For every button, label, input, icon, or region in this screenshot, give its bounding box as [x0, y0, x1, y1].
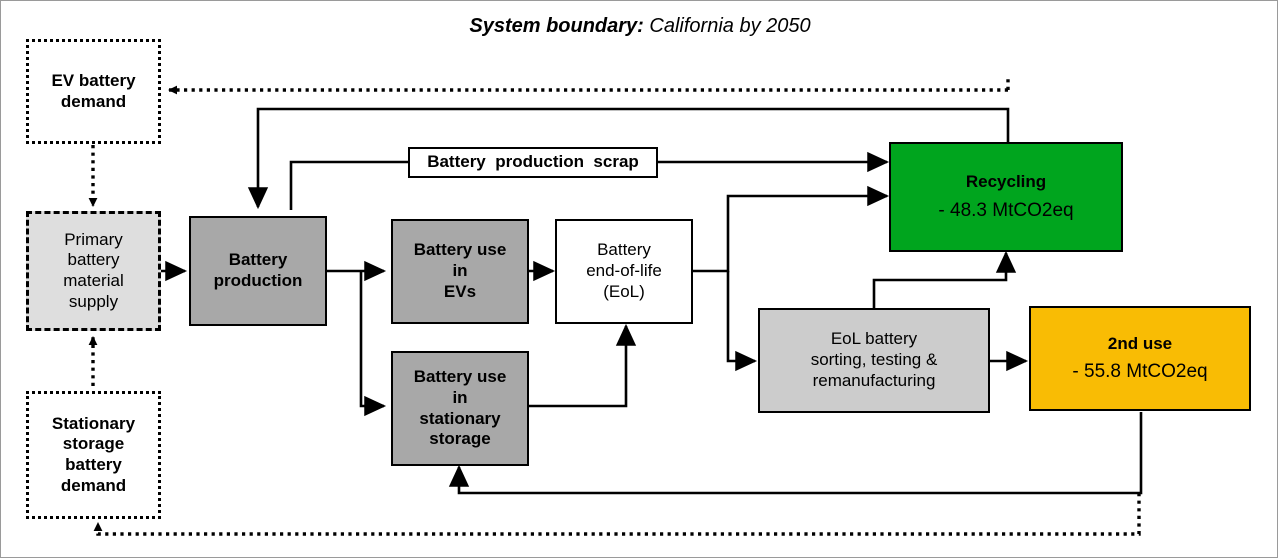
node-label-line: remanufacturing [813, 371, 936, 392]
node-label-line: in [452, 388, 467, 409]
node-label-line: demand [61, 92, 126, 113]
line-eol-to-recycling [692, 196, 887, 271]
node-label-line: end-of-life [586, 261, 662, 282]
node-stationary-storage-battery-demand[interactable]: Stationary storage battery demand [26, 391, 161, 519]
node-label-line: supply [69, 292, 118, 313]
node-label-line: (EoL) [603, 282, 645, 303]
node-label-line: storage [429, 429, 490, 450]
node-ev-battery-demand[interactable]: EV battery demand [26, 39, 161, 144]
node-primary-battery-material-supply[interactable]: Primary battery material supply [26, 211, 161, 331]
node-label-line: EV battery [51, 71, 135, 92]
node-label-line: EVs [444, 282, 476, 303]
line-seconduse-to-statuse [459, 412, 1141, 493]
node-label-line: battery [68, 250, 120, 271]
node-label-line: Primary [64, 230, 123, 251]
node-label-line: stationary [419, 409, 500, 430]
line-production-to-statuse [361, 271, 384, 406]
node-label-line: Battery production scrap [427, 152, 639, 173]
node-battery-use-in-stationary-storage[interactable]: Battery use in stationary storage [391, 351, 529, 466]
page-title: System boundary: California by 2050 [1, 15, 1278, 38]
node-label-line: material [63, 271, 123, 292]
node-battery-use-in-evs[interactable]: Battery use in EVs [391, 219, 529, 324]
node-battery-end-of-life[interactable]: Battery end-of-life (EoL) [555, 219, 693, 324]
node-label-line: in [452, 261, 467, 282]
line-sorting-to-recycling [874, 253, 1006, 308]
node-label-line: Battery [597, 240, 651, 261]
line-eol-to-sorting [728, 271, 755, 361]
node-label-line: Battery [229, 250, 288, 271]
title-normal-part: California by 2050 [644, 15, 811, 37]
diagram-canvas: System boundary: California by 2050 [0, 0, 1278, 558]
node-impact-value: - 55.8 MtCO2eq [1072, 360, 1207, 383]
node-label-line: Battery use [414, 367, 507, 388]
node-label-line: demand [61, 476, 126, 497]
node-label-line: battery [65, 455, 122, 476]
node-title: 2nd use [1108, 334, 1172, 355]
node-battery-production-scrap[interactable]: Battery production scrap [408, 147, 658, 178]
node-recycling[interactable]: Recycling - 48.3 MtCO2eq [889, 142, 1123, 252]
node-impact-value: - 48.3 MtCO2eq [938, 199, 1073, 222]
node-eol-battery-sorting[interactable]: EoL battery sorting, testing & remanufac… [758, 308, 990, 413]
title-bold-part: System boundary: [469, 15, 643, 37]
node-label-line: storage [63, 434, 124, 455]
node-title: Recycling [966, 172, 1046, 193]
node-label-line: production [214, 271, 303, 292]
node-label-line: Battery use [414, 240, 507, 261]
node-label-line: EoL battery [831, 329, 917, 350]
line-seconduse-to-statdemand [98, 493, 1139, 534]
line-statuse-to-eol [528, 326, 626, 406]
node-second-use[interactable]: 2nd use - 55.8 MtCO2eq [1029, 306, 1251, 411]
line-production-to-scrap [291, 162, 409, 210]
node-label-line: sorting, testing & [811, 350, 938, 371]
node-label-line: Stationary [52, 414, 135, 435]
node-battery-production[interactable]: Battery production [189, 216, 327, 326]
